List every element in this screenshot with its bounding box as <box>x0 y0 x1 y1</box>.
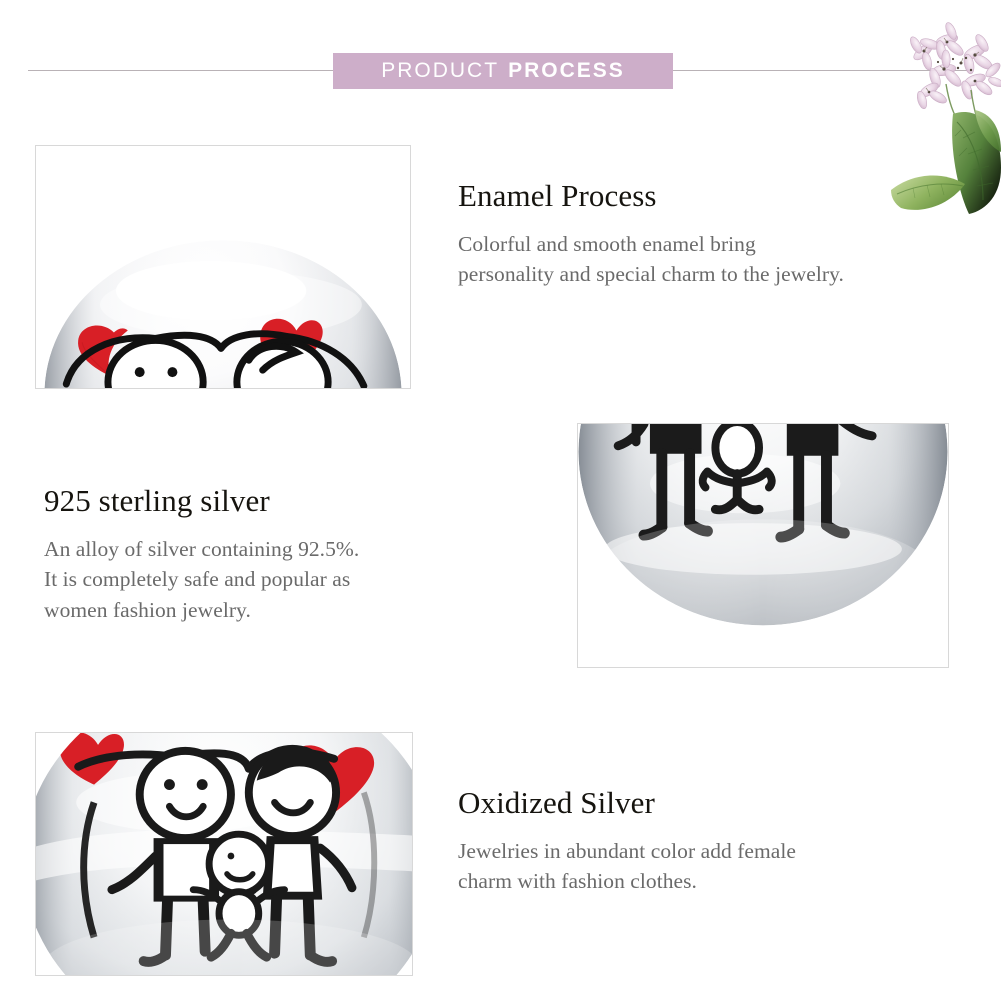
page-header: PRODUCT PROCESS <box>0 0 1001 120</box>
page-title-banner: PRODUCT PROCESS <box>333 53 673 89</box>
banner-word-product: PRODUCT <box>381 59 499 83</box>
body-line: personality and special charm to the jew… <box>458 259 993 290</box>
body-925-sterling-silver: An alloy of silver containing 92.5%. It … <box>44 534 514 626</box>
heading-enamel-process: Enamel Process <box>458 178 993 215</box>
section-text-sterling-silver: 925 sterling silver An alloy of silver c… <box>44 483 514 625</box>
banner-word-process: PROCESS <box>508 59 625 83</box>
body-line: Jewelries in abundant color add female <box>458 836 993 867</box>
product-image-oxidized-silver[interactable] <box>35 732 413 976</box>
body-oxidized-silver: Jewelries in abundant color add female c… <box>458 836 993 897</box>
body-line: It is completely safe and popular as <box>44 564 514 595</box>
body-line: charm with fashion clothes. <box>458 866 993 897</box>
heading-oxidized-silver: Oxidized Silver <box>458 785 993 822</box>
body-line: An alloy of silver containing 92.5%. <box>44 534 514 565</box>
heading-925-sterling-silver: 925 sterling silver <box>44 483 514 520</box>
section-text-oxidized-silver: Oxidized Silver Jewelries in abundant co… <box>458 785 993 897</box>
section-text-enamel: Enamel Process Colorful and smooth ename… <box>458 178 993 290</box>
product-image-enamel[interactable] <box>35 145 411 389</box>
body-enamel-process: Colorful and smooth enamel bring persona… <box>458 229 993 290</box>
body-line: women fashion jewelry. <box>44 595 514 626</box>
product-image-sterling-silver[interactable] <box>577 423 949 668</box>
body-line: Colorful and smooth enamel bring <box>458 229 993 260</box>
